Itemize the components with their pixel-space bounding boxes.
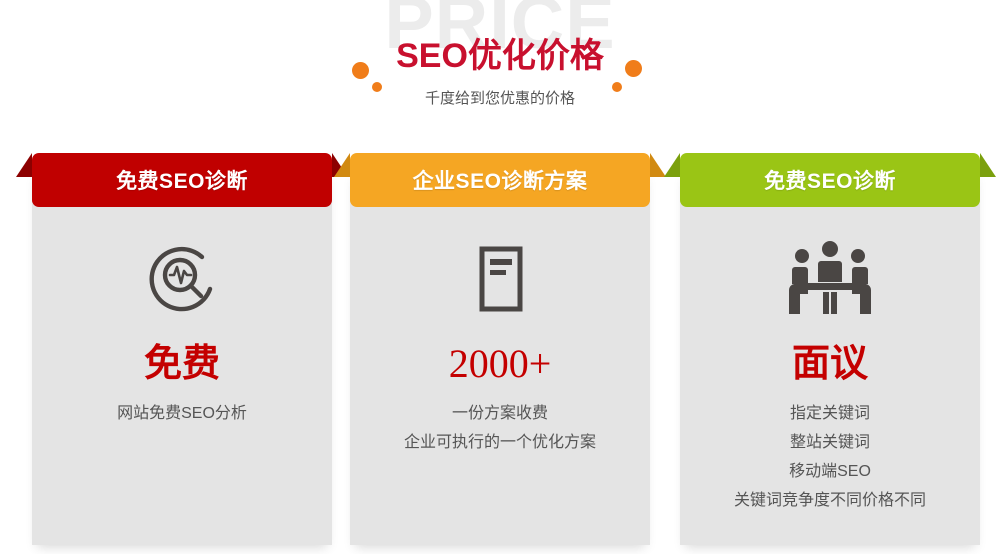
card-ribbon-label: 免费SEO诊断 xyxy=(32,153,332,207)
feature-item: 企业可执行的一个优化方案 xyxy=(350,428,650,457)
feature-item: 一份方案收费 xyxy=(350,399,650,428)
meeting-people-icon xyxy=(784,233,876,325)
magnifier-pulse-icon xyxy=(140,233,224,325)
decor-dot-right-small xyxy=(612,82,622,92)
page-subtitle: 千度给到您优惠的价格 xyxy=(0,88,1000,110)
feature-item: 网站免费SEO分析 xyxy=(32,399,332,428)
card-price: 2000+ xyxy=(449,339,552,389)
ribbon-fold-left-icon xyxy=(16,153,32,177)
pricing-cards: 免费SEO诊断 免费 网站免费SEO分析 xyxy=(0,145,1000,554)
feature-item: 移动端SEO xyxy=(680,457,980,486)
card-ribbon-label: 免费SEO诊断 xyxy=(680,153,980,207)
pricing-card-negotiable[interactable]: 免费SEO诊断 xyxy=(680,145,980,545)
ribbon-fold-right-icon xyxy=(650,153,666,177)
price-page: PRICE SEO优化价格 千度给到您优惠的价格 免费SEO诊断 xyxy=(0,0,1000,554)
card-features: 网站免费SEO分析 xyxy=(32,399,332,428)
card-ribbon: 免费SEO诊断 xyxy=(32,145,332,207)
card-content: 免费 网站免费SEO分析 xyxy=(32,225,332,428)
card-ribbon: 企业SEO诊断方案 xyxy=(350,145,650,207)
card-content: 2000+ 一份方案收费 企业可执行的一个优化方案 xyxy=(350,225,650,457)
page-header: PRICE SEO优化价格 千度给到您优惠的价格 xyxy=(0,0,1000,130)
card-ribbon: 免费SEO诊断 xyxy=(680,145,980,207)
card-features: 指定关键词 整站关键词 移动端SEO 关键词竞争度不同价格不同 xyxy=(680,399,980,515)
pricing-card-enterprise-plan[interactable]: 企业SEO诊断方案 2000+ 一份方案收费 企业可执行的一个优化方案 xyxy=(350,145,650,545)
feature-item: 整站关键词 xyxy=(680,428,980,457)
card-price: 面议 xyxy=(792,339,868,389)
page-title: SEO优化价格 xyxy=(0,36,1000,76)
pricing-card-free-diagnosis[interactable]: 免费SEO诊断 免费 网站免费SEO分析 xyxy=(32,145,332,545)
card-features: 一份方案收费 企业可执行的一个优化方案 xyxy=(350,399,650,457)
decor-dot-left-large xyxy=(352,62,369,79)
document-icon xyxy=(458,233,542,325)
card-price: 免费 xyxy=(144,339,220,389)
ribbon-fold-right-icon xyxy=(980,153,996,177)
decor-dot-left-small xyxy=(372,82,382,92)
card-content: 面议 指定关键词 整站关键词 移动端SEO 关键词竞争度不同价格不同 xyxy=(680,225,980,515)
card-ribbon-label: 企业SEO诊断方案 xyxy=(350,153,650,207)
feature-item: 指定关键词 xyxy=(680,399,980,428)
feature-item: 关键词竞争度不同价格不同 xyxy=(680,486,980,515)
decor-dot-right-large xyxy=(625,60,642,77)
ribbon-fold-left-icon xyxy=(664,153,680,177)
